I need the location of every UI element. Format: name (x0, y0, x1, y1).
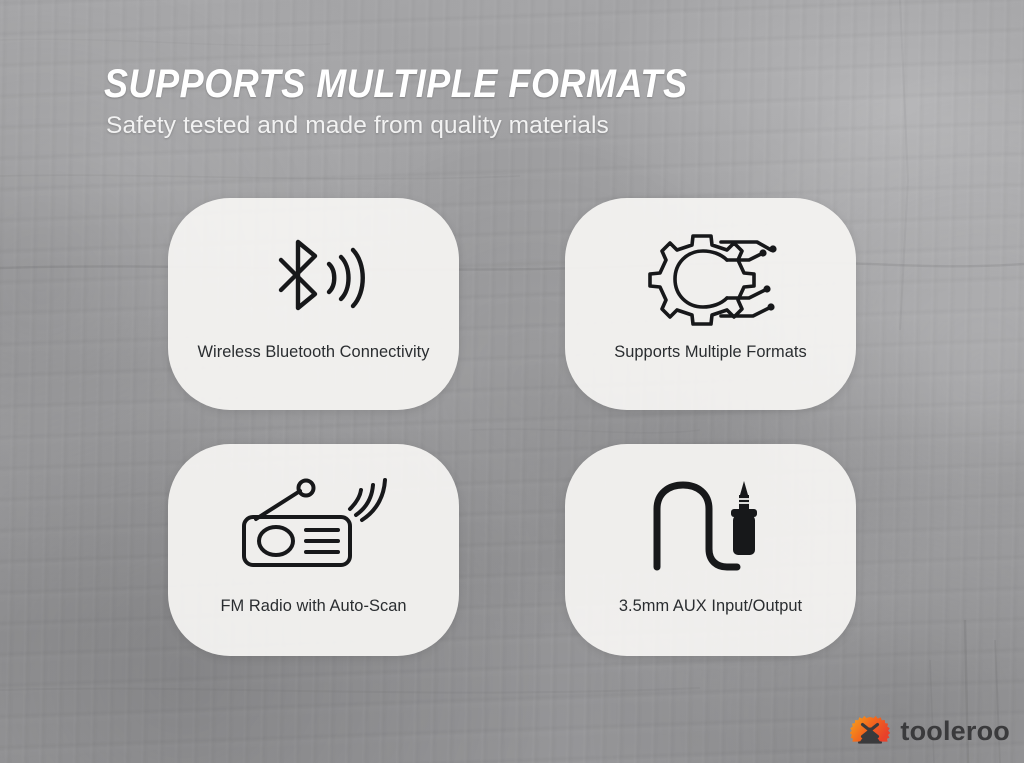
feature-card-grid: Wireless Bluetooth Connectivity (168, 198, 868, 656)
feature-infographic-panel: SUPPORTS MULTIPLE FORMATS Safety tested … (0, 0, 1024, 763)
page-subtitle: Safety tested and made from quality mate… (106, 111, 864, 140)
feature-card-label: Wireless Bluetooth Connectivity (197, 342, 429, 364)
sunburst-mountain-logo-icon (847, 715, 893, 747)
brand-name: tooleroo (900, 718, 1010, 745)
aux-cable-jack-icon (647, 474, 775, 574)
page-title: SUPPORTS MULTIPLE FORMATS (104, 64, 788, 105)
fm-radio-signal-icon (238, 474, 390, 574)
bluetooth-signal-icon (259, 228, 369, 328)
feature-card-label: 3.5mm AUX Input/Output (619, 596, 802, 618)
brand-logo: tooleroo (847, 715, 1010, 747)
feature-card-label: Supports Multiple Formats (614, 342, 807, 364)
feature-card-label: FM Radio with Auto-Scan (220, 596, 406, 618)
feature-card-fm-radio[interactable]: FM Radio with Auto-Scan (168, 444, 459, 656)
feature-card-bluetooth[interactable]: Wireless Bluetooth Connectivity (168, 198, 459, 410)
header-block: SUPPORTS MULTIPLE FORMATS Safety tested … (104, 64, 864, 140)
feature-card-aux[interactable]: 3.5mm AUX Input/Output (565, 444, 856, 656)
feature-card-formats[interactable]: Supports Multiple Formats (565, 198, 856, 410)
gear-circuit-icon (641, 228, 781, 328)
